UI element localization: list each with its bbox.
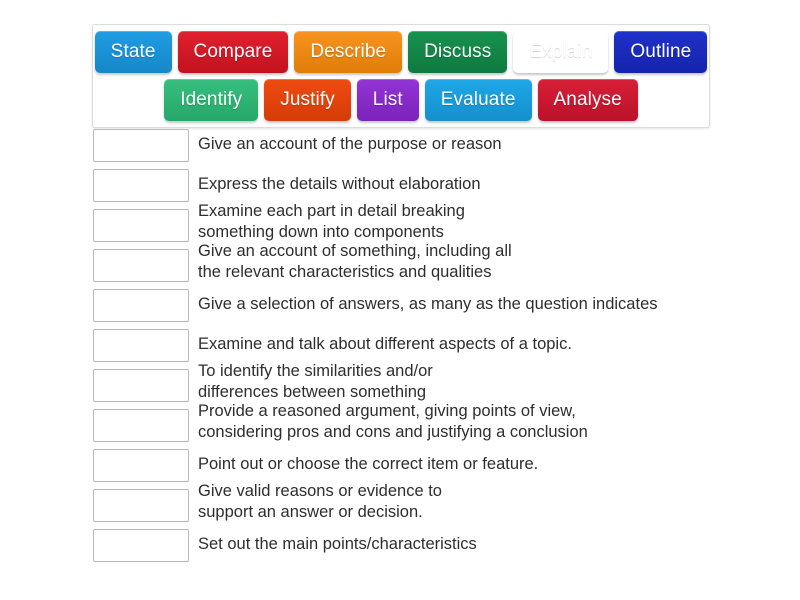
definition-row: Give an account of the purpose or reason bbox=[93, 129, 753, 169]
word-tile-discuss[interactable]: Discuss bbox=[408, 31, 507, 73]
word-tile-state[interactable]: State bbox=[95, 31, 172, 73]
answer-drop-box[interactable] bbox=[93, 209, 189, 242]
definition-text: Set out the main points/characteristics bbox=[198, 534, 753, 555]
answer-drop-box[interactable] bbox=[93, 129, 189, 162]
answer-drop-box[interactable] bbox=[93, 329, 189, 362]
word-tile-outline[interactable]: Outline bbox=[614, 31, 707, 73]
answer-drop-box[interactable] bbox=[93, 489, 189, 522]
answer-drop-box[interactable] bbox=[93, 289, 189, 322]
definition-rows: Give an account of the purpose or reason… bbox=[93, 129, 753, 569]
word-tile-describe[interactable]: Describe bbox=[294, 31, 402, 73]
answer-drop-box[interactable] bbox=[93, 449, 189, 482]
word-tile-identify[interactable]: Identify bbox=[164, 79, 258, 121]
match-up-activity: StateCompareDescribeDiscussExplainOutlin… bbox=[0, 0, 800, 600]
definition-text: Give an account of the purpose or reason bbox=[198, 134, 753, 155]
definition-row: Give a selection of answers, as many as … bbox=[93, 289, 753, 329]
word-tile-explain[interactable]: Explain bbox=[513, 31, 608, 73]
definition-text: Express the details without elaboration bbox=[198, 174, 753, 195]
answer-drop-box[interactable] bbox=[93, 529, 189, 562]
definition-text: Provide a reasoned argument, giving poin… bbox=[198, 401, 753, 443]
word-bank-row-2: IdentifyJustifyListEvaluateAnalyse bbox=[99, 79, 703, 121]
word-tile-list[interactable]: List bbox=[357, 79, 419, 121]
definition-text: Examine and talk about different aspects… bbox=[198, 334, 753, 355]
definition-row: Provide a reasoned argument, giving poin… bbox=[93, 409, 753, 449]
definition-text: Point out or choose the correct item or … bbox=[198, 454, 753, 475]
word-tile-evaluate[interactable]: Evaluate bbox=[425, 79, 532, 121]
answer-drop-box[interactable] bbox=[93, 249, 189, 282]
definition-row: Set out the main points/characteristics bbox=[93, 529, 753, 569]
answer-drop-box[interactable] bbox=[93, 409, 189, 442]
word-bank-row-1: StateCompareDescribeDiscussExplainOutlin… bbox=[99, 31, 703, 73]
definition-row: Give an account of something, including … bbox=[93, 249, 753, 289]
word-tile-justify[interactable]: Justify bbox=[264, 79, 351, 121]
definition-text: Give a selection of answers, as many as … bbox=[198, 294, 753, 315]
definition-row: Give valid reasons or evidence to suppor… bbox=[93, 489, 753, 529]
definition-text: Give an account of something, including … bbox=[198, 241, 753, 283]
word-bank-panel: StateCompareDescribeDiscussExplainOutlin… bbox=[92, 24, 710, 128]
word-tile-analyse[interactable]: Analyse bbox=[538, 79, 638, 121]
definition-text: Examine each part in detail breaking som… bbox=[198, 201, 753, 243]
definition-text: To identify the similarities and/or diff… bbox=[198, 361, 753, 403]
answer-drop-box[interactable] bbox=[93, 369, 189, 402]
answer-drop-box[interactable] bbox=[93, 169, 189, 202]
word-tile-compare[interactable]: Compare bbox=[178, 31, 289, 73]
definition-text: Give valid reasons or evidence to suppor… bbox=[198, 481, 753, 523]
